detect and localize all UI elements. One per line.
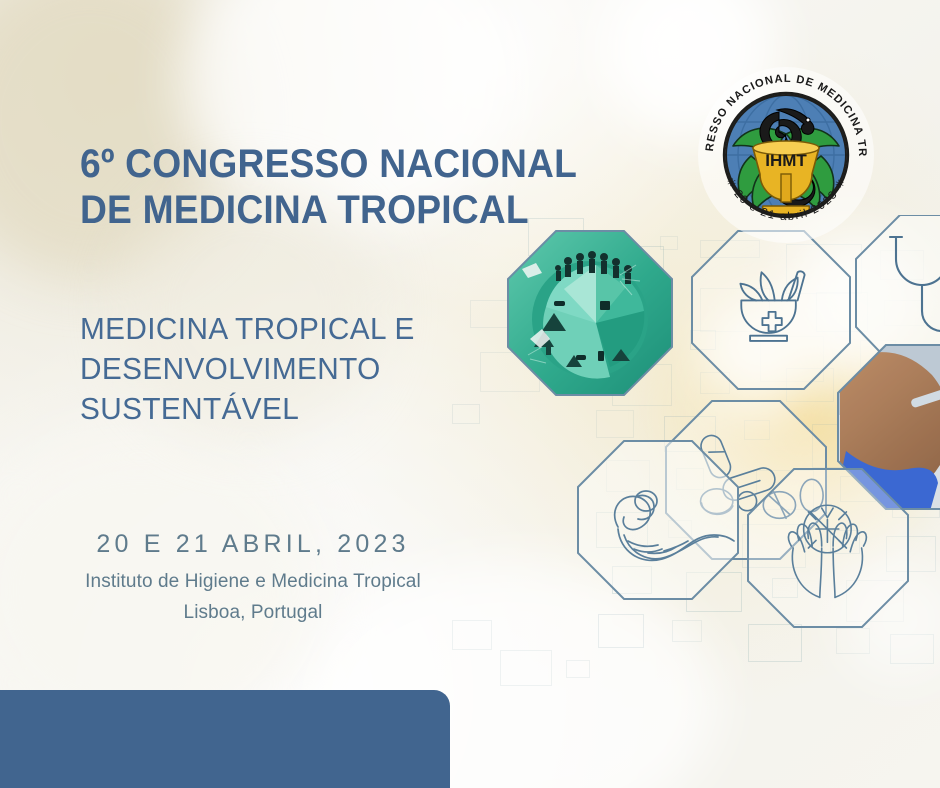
tile-mortar-pestle [692, 231, 850, 389]
event-venue: Instituto de Higiene e Medicina Tropical [18, 571, 488, 593]
logo-center-text: IHMT [765, 151, 807, 170]
page-title: 6º CONGRESSO NACIONAL DE MEDICINA TROPIC… [80, 141, 582, 233]
event-details: 20 E 21 ABRIL, 2023 Instituto de Higiene… [18, 530, 488, 624]
event-date: 20 E 21 ABRIL, 2023 [18, 530, 488, 559]
event-city: Lisboa, Portugal [18, 602, 488, 624]
poster-subtitle: MEDICINA TROPICAL E DESENVOLVIMENTO SUST… [80, 309, 531, 429]
tile-mosquito-protection [748, 469, 908, 627]
congress-logo: IHMT 6º CONGRESSO NACIONAL DE MEDICINA T… [691, 60, 881, 250]
bottom-blue-bar [0, 690, 450, 788]
poster-canvas: IHMT 6º CONGRESSO NACIONAL DE MEDICINA T… [0, 0, 940, 788]
text-column: 6º CONGRESSO NACIONAL DE MEDICINA TROPIC… [0, 0, 620, 788]
